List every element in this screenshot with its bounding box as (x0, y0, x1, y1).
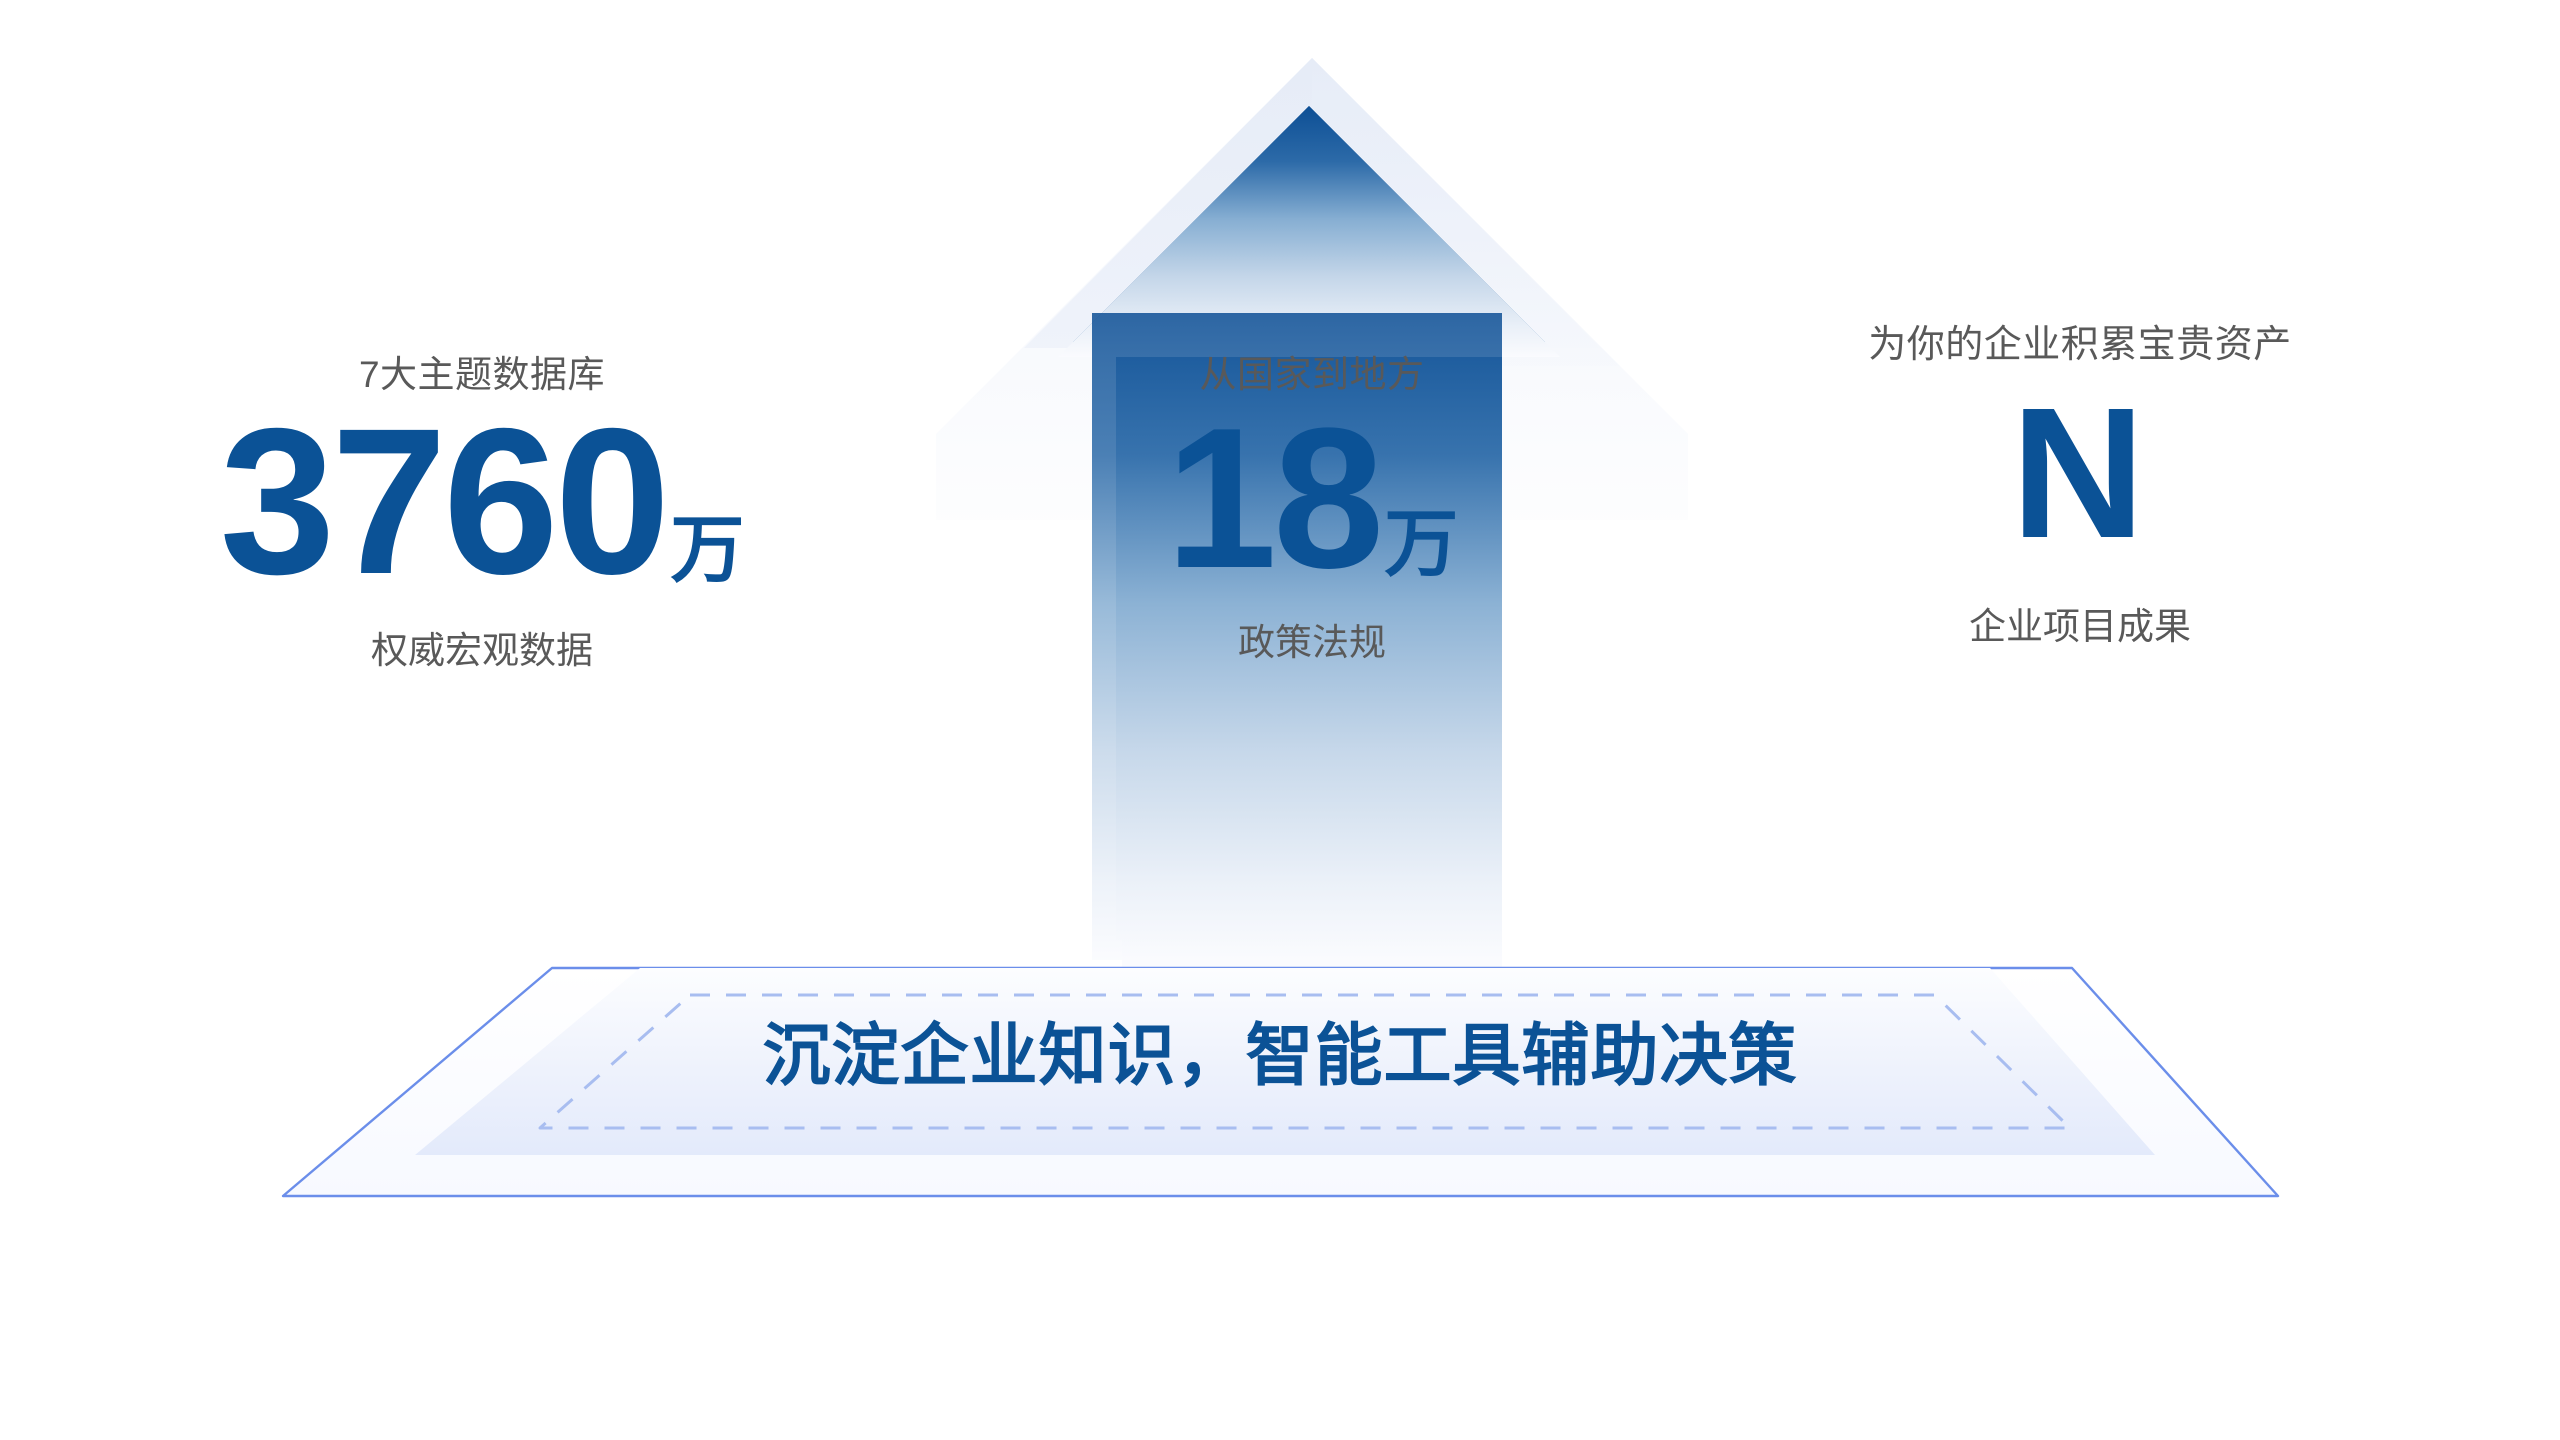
stat-sublabel: 权威宏观数据 (102, 628, 862, 674)
stat-column-policy-regulation: 从国家到地方 18 万 政策法规 (932, 352, 1692, 667)
stat-value: N (1700, 386, 2460, 563)
stat-unit: 万 (1384, 507, 1458, 581)
stat-unit: 万 (670, 513, 744, 587)
stat-number: 18 (1166, 404, 1380, 594)
stat-number: 3760 (220, 404, 667, 602)
stat-caption: 为你的企业积累宝贵资产 (1700, 322, 2460, 370)
stat-column-enterprise-results: 为你的企业积累宝贵资产 N 企业项目成果 (1700, 322, 2460, 650)
infographic-canvas: 7大主题数据库 3760 万 权威宏观数据 从国家到地方 18 万 政策法规 为… (0, 0, 2560, 1440)
platform-headline: 沉淀企业知识，智能工具辅助决策 (0, 1000, 2560, 1099)
stat-sublabel: 政策法规 (932, 620, 1692, 666)
stat-value: 3760 万 (102, 404, 862, 602)
stat-number: N (2011, 386, 2145, 563)
stat-column-macro-data: 7大主题数据库 3760 万 权威宏观数据 (102, 352, 862, 674)
stat-sublabel: 企业项目成果 (1700, 604, 2460, 650)
stat-value: 18 万 (932, 404, 1692, 594)
background-graphics (0, 0, 2560, 1440)
